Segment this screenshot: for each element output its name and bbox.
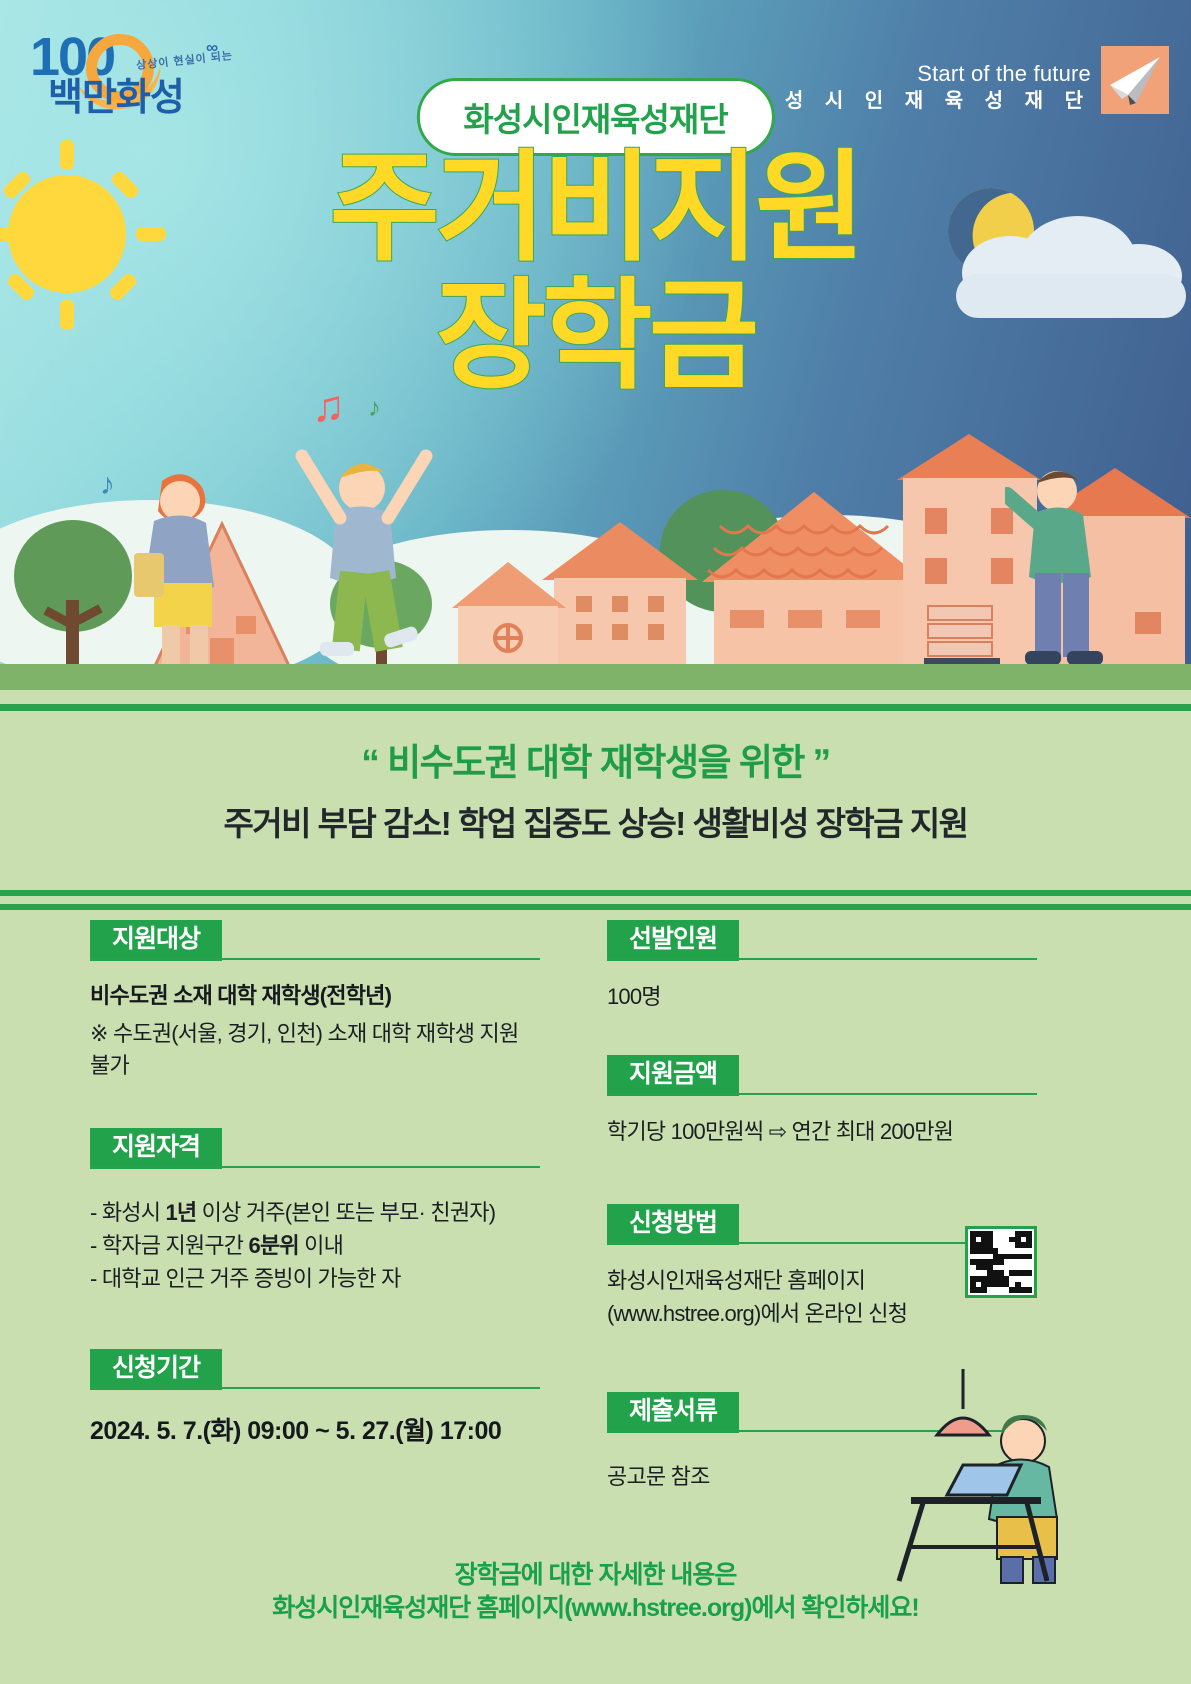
section-line: 2024. 5. 7.(화) 09:00 ~ 5. 27.(월) 17:00	[90, 1411, 540, 1447]
foundation-logo: Start of the future 화 성 시 인 재 육 성 재 단	[745, 22, 1169, 114]
section-line: - 대학교 인근 거주 증빙이 가능한 자	[90, 1262, 540, 1295]
section-label: 지원자격	[90, 1128, 222, 1169]
section-line: 비수도권 소재 대학 재학생(전학년)	[90, 980, 540, 1012]
section-header: 지원대상	[90, 920, 540, 958]
section-quota: 선발인원 100명	[607, 920, 1037, 1013]
section-label: 선발인원	[607, 920, 739, 961]
section-line: - 학자금 지원구간 6분위 이내	[90, 1229, 540, 1262]
divider-top	[0, 704, 1191, 711]
content-section: “ 비수도권 대학 재학생을 위한 ” 주거비 부담 감소! 학업 집중도 상승…	[0, 690, 1191, 1684]
ground-strip	[0, 664, 1191, 690]
baekman-hwaseong-logo: 100 상상이 현실이 되는 ∞ 백만화성	[24, 24, 254, 110]
section-line: 100명	[607, 980, 1037, 1013]
section-label: 지원금액	[607, 1055, 739, 1096]
hero-illustration: 100 상상이 현실이 되는 ∞ 백만화성 Start of the futur…	[0, 0, 1191, 690]
footer-line-2: 화성시인재육성재단 홈페이지(www.hstree.org)에서 확인하세요!	[0, 1592, 1191, 1626]
section-underline	[90, 958, 540, 960]
section-underline	[90, 1387, 540, 1389]
section-line: 학기당 100만원씩 ⇨ 연간 최대 200만원	[607, 1115, 1037, 1148]
title-line-2: 장학금	[0, 278, 1191, 396]
person-walking-illustration	[110, 455, 250, 690]
footer-note: 장학금에 대한 자세한 내용은 화성시인재육성재단 홈페이지(www.hstre…	[0, 1559, 1191, 1627]
section-body: 100명	[607, 980, 1037, 1013]
music-note-icon: ♫	[312, 382, 345, 432]
section-line: - 화성시 1년 이상 거주(본인 또는 부모· 친권자)	[90, 1196, 540, 1229]
poster-root: 100 상상이 현실이 되는 ∞ 백만화성 Start of the futur…	[0, 0, 1191, 1684]
headline-subtitle: 주거비 부담 감소! 학업 집중도 상승! 생활비성 장학금 지원	[0, 797, 1191, 845]
section-label: 지원대상	[90, 920, 222, 961]
section-body: 학기당 100만원씩 ⇨ 연간 최대 200만원	[607, 1115, 1037, 1148]
section-apply-method: 신청방법 화성시인재육성재단 홈페이지 (www.hstree.org)에서 온…	[607, 1204, 1037, 1330]
music-note-icon: ♪	[368, 392, 381, 423]
divider-middle-a	[0, 890, 1191, 896]
paper-plane-icon	[1101, 46, 1169, 114]
qr-code-icon[interactable]	[965, 1226, 1037, 1298]
section-label: 신청방법	[607, 1204, 739, 1245]
footer-line-1: 장학금에 대한 자세한 내용은	[0, 1559, 1191, 1593]
foundation-logo-english: Start of the future	[745, 62, 1091, 86]
section-target: 지원대상 비수도권 소재 대학 재학생(전학년) ※ 수도권(서울, 경기, 인…	[90, 920, 540, 1082]
section-label: 제출서류	[607, 1392, 739, 1433]
section-underline	[90, 1166, 540, 1168]
divider-middle-b	[0, 904, 1191, 910]
headline-quote: “ 비수도권 대학 재학생을 위한 ”	[0, 732, 1191, 786]
section-underline	[607, 1093, 1037, 1095]
person-at-desk-illustration	[851, 1369, 1081, 1589]
poster-title: 주거비지원 장학금	[0, 150, 1191, 395]
section-header: 신청기간	[90, 1349, 540, 1387]
section-header: 지원자격	[90, 1128, 540, 1166]
section-body: - 화성시 1년 이상 거주(본인 또는 부모· 친권자) - 학자금 지원구간…	[90, 1196, 540, 1295]
section-underline	[607, 958, 1037, 960]
section-header: 선발인원	[607, 920, 1037, 958]
section-line: (www.hstree.org)에서 온라인 신청	[607, 1297, 1037, 1330]
section-header: 지원금액	[607, 1055, 1037, 1093]
section-eligibility: 지원자격 - 화성시 1년 이상 거주(본인 또는 부모· 친권자) - 학자금…	[90, 1128, 540, 1295]
logo-name: 백만화성	[48, 66, 184, 121]
section-amount: 지원금액 학기당 100만원씩 ⇨ 연간 최대 200만원	[607, 1055, 1037, 1148]
section-line: ※ 수도권(서울, 경기, 인천) 소재 대학 재학생 지원 불가	[90, 1018, 540, 1082]
house-icon	[450, 560, 570, 675]
foundation-logo-korean: 화 성 시 인 재 육 성 재 단	[745, 88, 1091, 114]
section-period: 신청기간 2024. 5. 7.(화) 09:00 ~ 5. 27.(월) 17…	[90, 1349, 540, 1447]
info-column-left: 지원대상 비수도권 소재 대학 재학생(전학년) ※ 수도권(서울, 경기, 인…	[90, 920, 540, 1457]
title-line-1: 주거비지원	[0, 150, 1191, 268]
section-label: 신청기간	[90, 1349, 222, 1390]
section-body: 비수도권 소재 대학 재학생(전학년) ※ 수도권(서울, 경기, 인천) 소재…	[90, 980, 540, 1082]
person-cheering-illustration	[280, 430, 450, 685]
infinity-icon: ∞	[206, 38, 218, 58]
